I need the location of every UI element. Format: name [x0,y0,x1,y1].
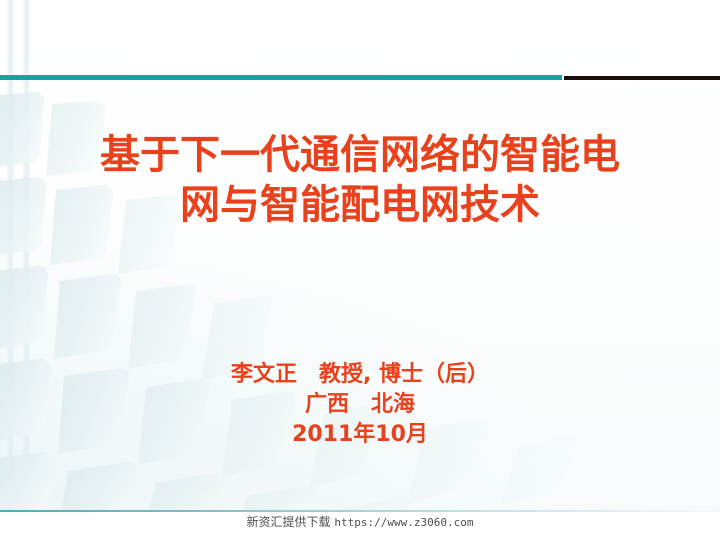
subtitle-author: 李文正 教授, 博士（后） [0,360,720,390]
footer-watermark: 新资汇提供下载 https://www.z3060.com [0,513,720,532]
slide-title: 基于下一代通信网络的智能电 网与智能配电网技术 [0,130,720,230]
slide-subtitle: 李文正 教授, 博士（后） 广西 北海 2011年10月 [0,360,720,450]
footer-watermark-url[interactable]: https://www.z3060.com [334,516,473,529]
header-rule-teal [0,75,562,80]
subtitle-location: 广西 北海 [0,390,720,420]
footer-watermark-label: 新资汇提供下载 [247,515,331,529]
subtitle-date: 2011年10月 [0,420,720,450]
title-line-2: 网与智能配电网技术 [0,180,720,230]
title-line-1: 基于下一代通信网络的智能电 [0,130,720,180]
presentation-title-slide: 基于下一代通信网络的智能电 网与智能配电网技术 李文正 教授, 博士（后） 广西… [0,0,720,540]
header-rule-dark [564,76,720,80]
